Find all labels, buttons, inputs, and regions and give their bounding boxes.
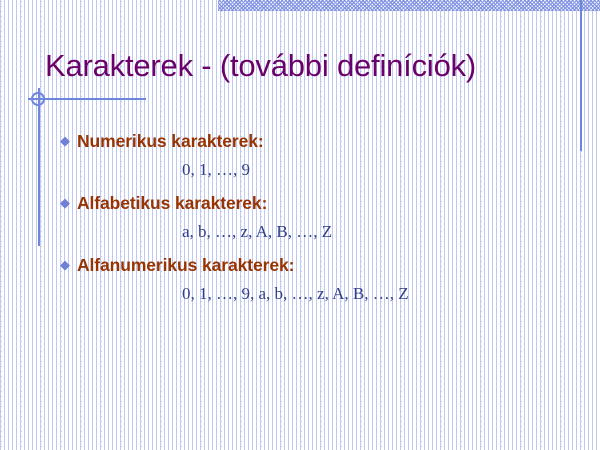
slide-canvas: Karakterek - (további definíciók) ◆ Nume…	[0, 0, 600, 450]
left-vertical-rule-decoration	[38, 88, 40, 246]
definition-group-numeric: ◆ Numerikus karakterek: 0, 1, …, 9	[60, 131, 590, 180]
definition-examples: 0, 1, …, 9, a, b, …, z, A, B, …, Z	[182, 284, 590, 304]
definition-examples: 0, 1, …, 9	[182, 160, 590, 180]
definition-heading: Alfanumerikus karakterek:	[77, 255, 294, 276]
definition-examples: a, b, …, z, A, B, …, Z	[182, 222, 590, 242]
title-underline-rule-decoration	[28, 98, 146, 100]
diamond-bullet-icon: ◆	[60, 258, 70, 271]
diamond-bullet-icon: ◆	[60, 134, 70, 147]
definition-group-alphanumeric: ◆ Alfanumerikus karakterek: 0, 1, …, 9, …	[60, 255, 590, 304]
diamond-bullet-icon: ◆	[60, 196, 70, 209]
slide-title: Karakterek - (további definíciók)	[45, 48, 565, 84]
slide-body: ◆ Numerikus karakterek: 0, 1, …, 9 ◆ Alf…	[60, 131, 590, 304]
bullet-row: ◆ Numerikus karakterek:	[60, 131, 590, 152]
left-circle-decoration	[31, 92, 45, 106]
right-vertical-rule-decoration	[580, 0, 582, 151]
definition-group-alphabetic: ◆ Alfabetikus karakterek: a, b, …, z, A,…	[60, 193, 590, 242]
top-checkered-band-decoration	[218, 0, 600, 11]
bullet-row: ◆ Alfanumerikus karakterek:	[60, 255, 590, 276]
definition-heading: Numerikus karakterek:	[77, 131, 264, 152]
bullet-row: ◆ Alfabetikus karakterek:	[60, 193, 590, 214]
definition-heading: Alfabetikus karakterek:	[77, 193, 267, 214]
